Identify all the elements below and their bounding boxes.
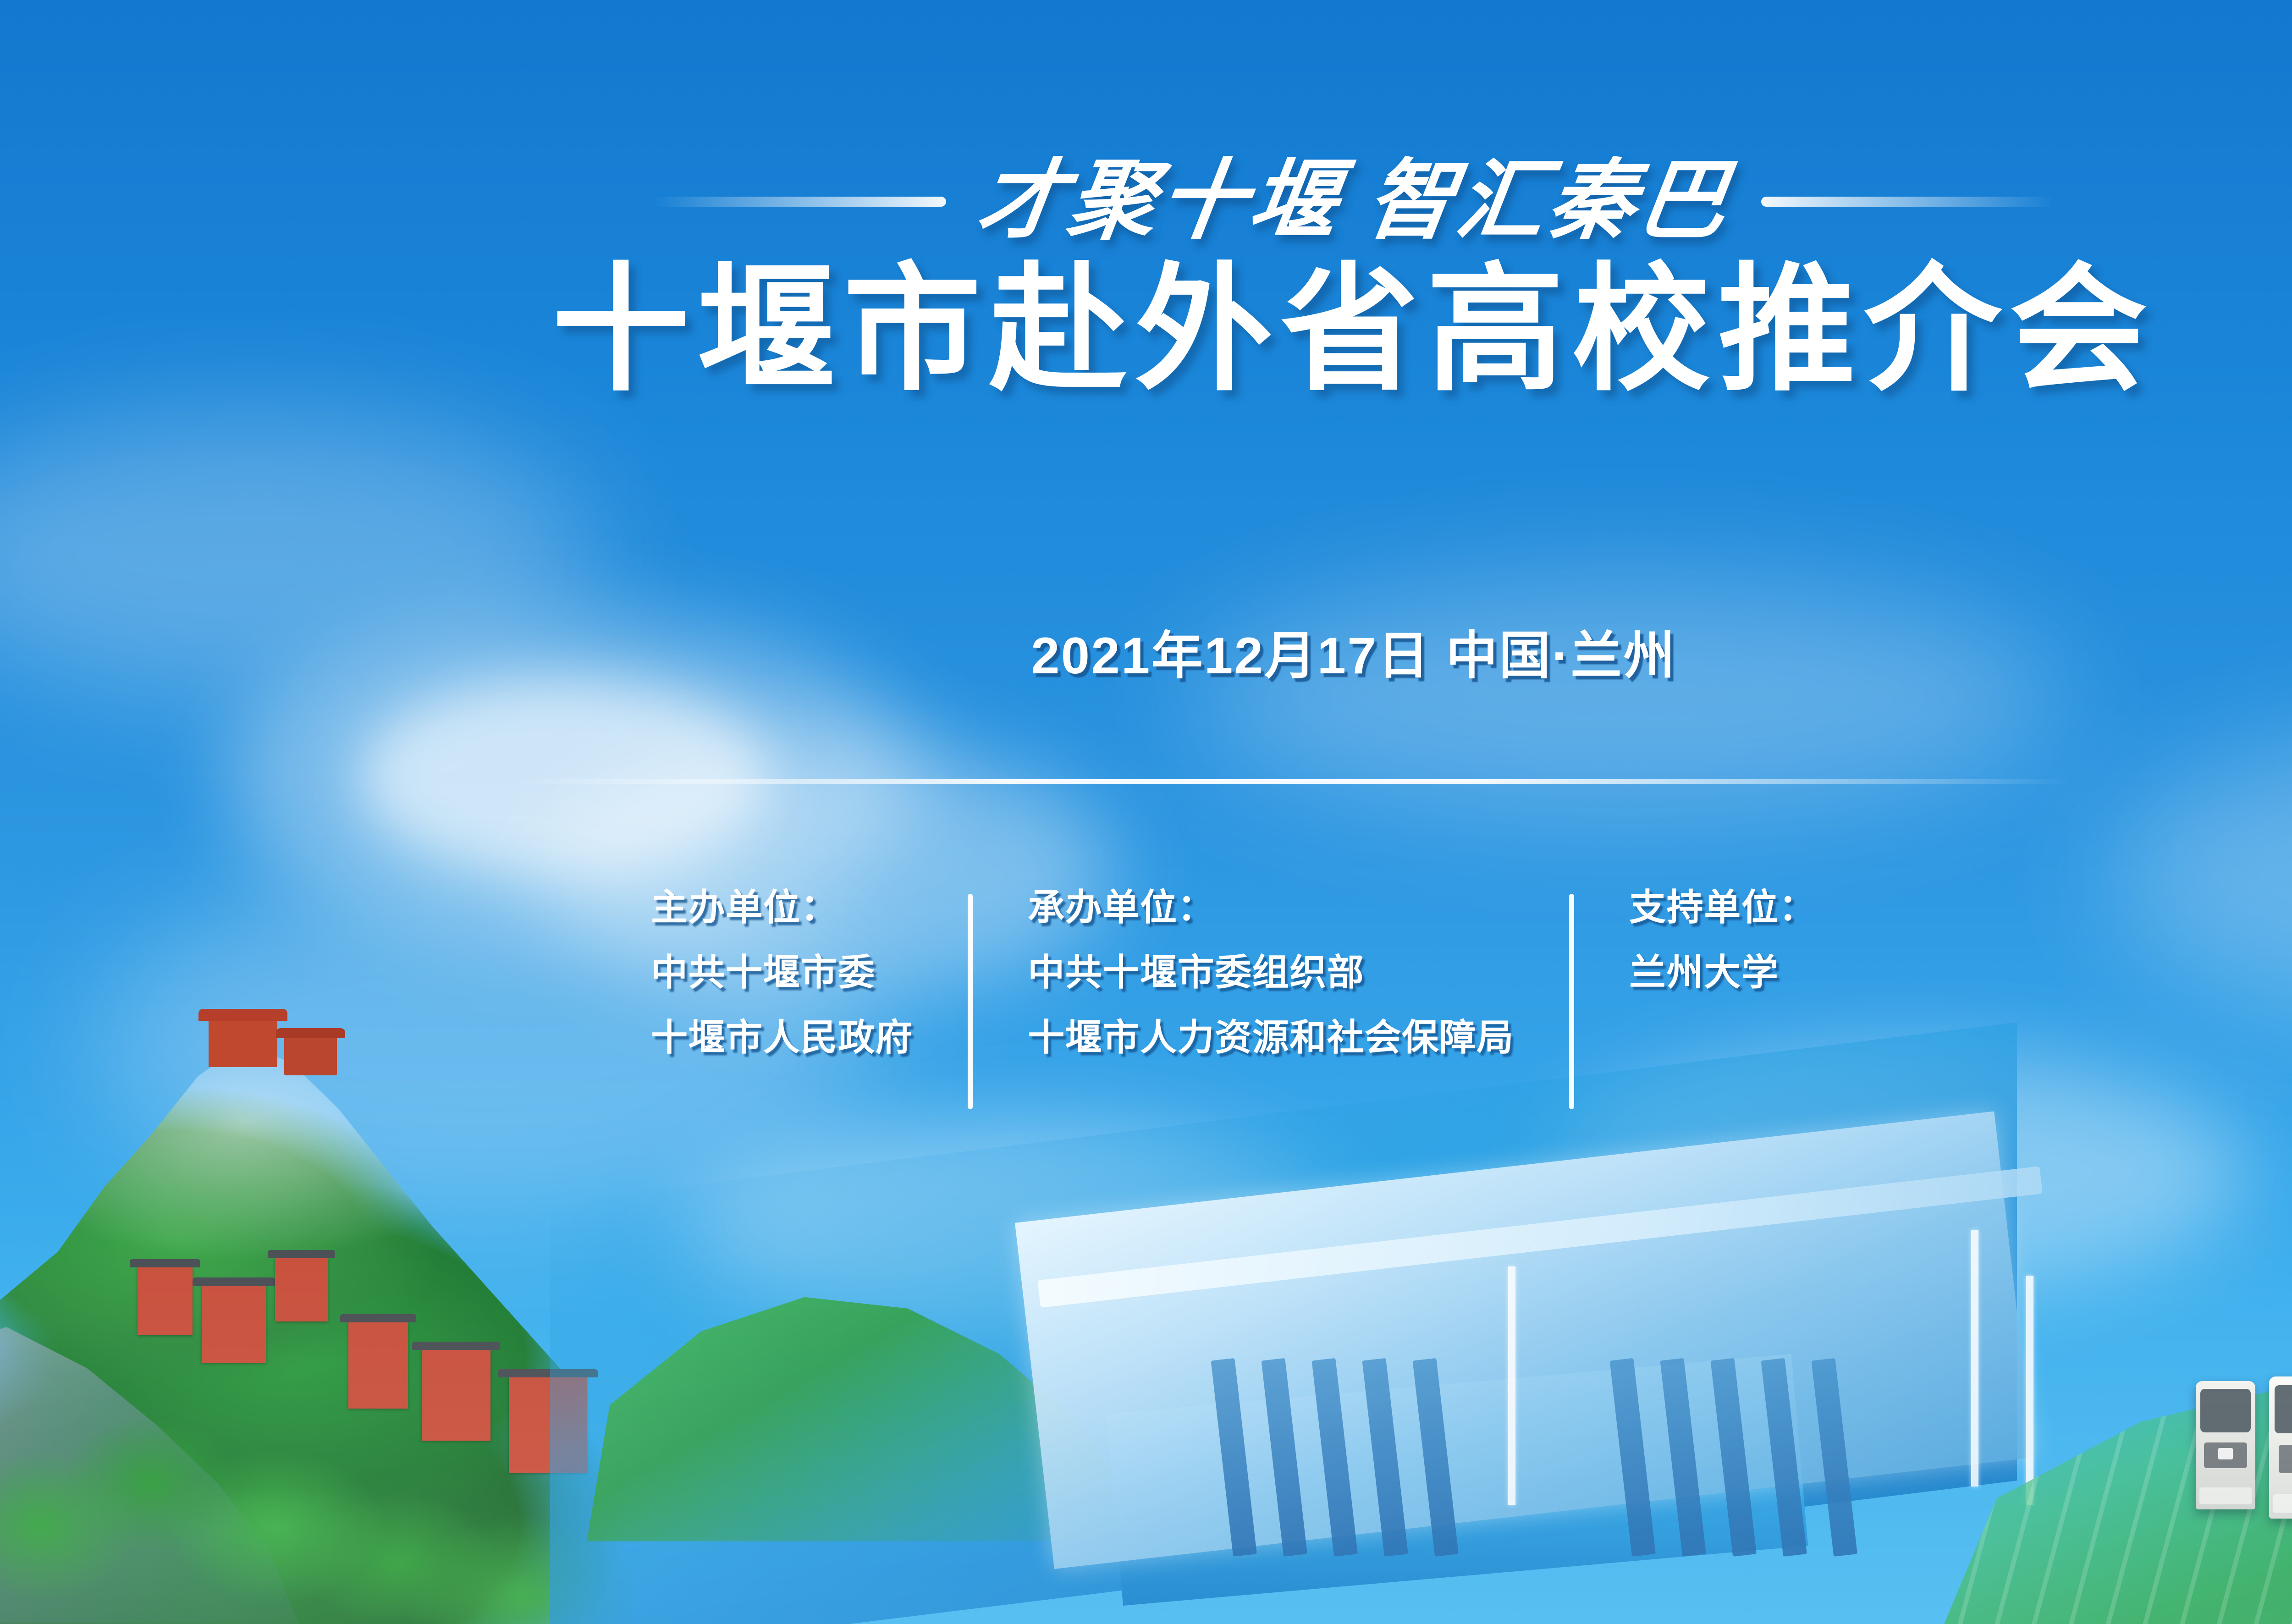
organizer-entry: 兰州大学 — [1629, 954, 1816, 991]
organizer-entry: 中共十堰市委组织部 — [1028, 954, 1514, 991]
organizer-block-host: 主办单位： 中共十堰市委 十堰市人民政府 — [651, 889, 913, 1056]
tagline-part2: 智汇秦巴 — [1360, 154, 1736, 250]
date-location-text: 2021年12月17日 中国·兰州 — [0, 614, 2292, 688]
organizer-divider-1 — [968, 894, 973, 1109]
horizontal-divider — [504, 779, 2072, 784]
page-title: 十堰市赴外省高校推介会 — [0, 257, 2292, 402]
organizers-row: 主办单位： 中共十堰市委 十堰市人民政府 承办单位： 中共十堰市委组织部 十堰市… — [651, 889, 1816, 1109]
organizer-block-supporter: 支持单位： 兰州大学 — [1629, 889, 1816, 991]
organizer-block-organizer: 承办单位： 中共十堰市委组织部 十堰市人力资源和社会保障局 — [1028, 889, 1514, 1056]
tagline-row: 才聚十堰智汇秦巴 — [0, 151, 2292, 252]
organizer-divider-2 — [1569, 894, 1574, 1109]
tagline-rule-left-icon — [653, 197, 946, 207]
organizer-entry: 中共十堰市委 — [651, 954, 913, 991]
tagline-part1: 才聚十堰 — [971, 154, 1347, 250]
organizer-entry: 十堰市人民政府 — [651, 1019, 913, 1056]
organizer-label: 支持单位： — [1629, 889, 1816, 926]
tagline: 才聚十堰智汇秦巴 — [972, 158, 1736, 245]
organizer-label: 承办单位： — [1028, 889, 1514, 926]
poster-canvas: 才聚十堰智汇秦巴 十堰市赴外省高校推介会 2021年12月17日 中国·兰州 主… — [0, 0, 2292, 1624]
poster-content: 才聚十堰智汇秦巴 十堰市赴外省高校推介会 2021年12月17日 中国·兰州 主… — [0, 0, 2292, 1624]
organizer-label: 主办单位： — [651, 889, 913, 926]
tagline-rule-right-icon — [1761, 197, 2055, 207]
organizer-entry: 十堰市人力资源和社会保障局 — [1028, 1019, 1514, 1056]
